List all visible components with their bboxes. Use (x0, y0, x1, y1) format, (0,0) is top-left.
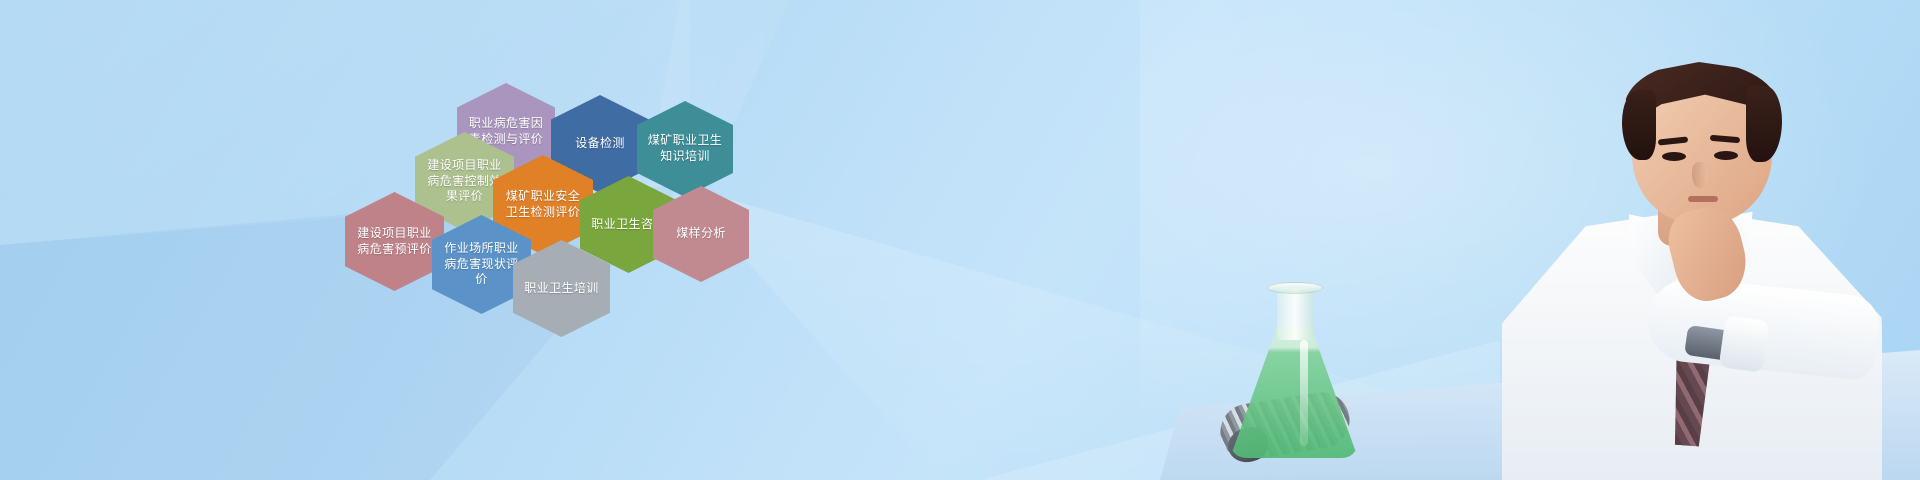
eye-right (1714, 151, 1738, 160)
person-figure (1472, 60, 1902, 480)
hex-coal-mine-health-knowledge-training[interactable]: 煤矿职业卫生知识培训 (637, 101, 733, 197)
banner-hero: 职业病危害因素检测与评价设备检测煤矿职业卫生知识培训建设项目职业病危害控制效果评… (0, 0, 1920, 480)
laboratory-glassware (1220, 278, 1370, 458)
hexagon-label: 设备检测 (560, 136, 640, 152)
hexagon-label: 煤矿职业安全卫生检测评价 (502, 189, 584, 221)
flask-highlight (1300, 340, 1308, 446)
erlenmeyer-flask-body (1230, 326, 1358, 458)
hexagon-label: 建设项目职业病危害预评价 (354, 226, 435, 258)
photo-composition (1160, 60, 1920, 480)
hexagon-label: 煤矿职业卫生知识培训 (646, 133, 724, 165)
hexagon-label: 建设项目职业病危害控制效果评价 (424, 158, 505, 205)
hair-sideburn-left (1622, 90, 1656, 160)
mouth (1688, 196, 1718, 202)
nose (1692, 162, 1708, 188)
eye-left (1662, 152, 1686, 161)
erlenmeyer-flask-neck (1277, 288, 1313, 340)
hexagon-label: 作业场所职业病危害现状评价 (441, 241, 522, 288)
hair-sideburn-right (1746, 86, 1782, 162)
hexagon-label: 职业卫生培训 (522, 281, 601, 297)
erlenmeyer-flask-lip (1267, 282, 1323, 294)
hexagon-label: 煤样分析 (662, 226, 740, 242)
service-hexagon-cluster: 职业病危害因素检测与评价设备检测煤矿职业卫生知识培训建设项目职业病危害控制效果评… (0, 0, 800, 360)
shirt-cuff (1719, 315, 1770, 373)
